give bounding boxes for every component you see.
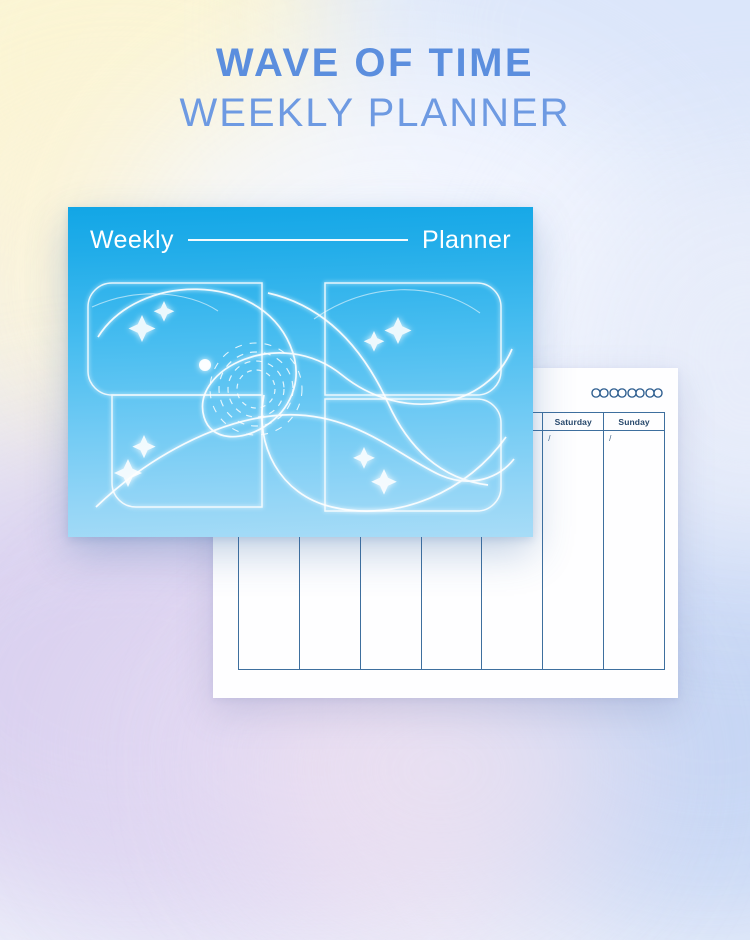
day-date-field[interactable]: / — [543, 431, 603, 443]
page-title: WAVE OF TIME — [0, 42, 750, 84]
flowing-wave-line-icon — [96, 289, 514, 511]
concentric-dashed-circles-icon — [210, 343, 302, 435]
accent-dot-icon — [199, 359, 211, 371]
cover-card-header: Weekly Planner — [90, 223, 511, 257]
page-subtitle: WEEKLY PLANNER — [0, 90, 750, 136]
day-date-field[interactable]: / — [604, 431, 664, 443]
day-column-header: Saturday — [543, 413, 603, 431]
day-column-saturday[interactable]: Saturday / — [543, 413, 604, 669]
day-column-sunday[interactable]: Sunday / — [604, 413, 664, 669]
headline-block: WAVE OF TIME WEEKLY PLANNER — [0, 42, 750, 136]
cover-card: Weekly Planner — [68, 207, 533, 537]
panel-frames — [88, 283, 501, 511]
cover-title-left: Weekly — [90, 226, 174, 255]
cover-title-right: Planner — [422, 226, 511, 255]
infinity-chain-icon — [590, 384, 664, 402]
day-column-header: Sunday — [604, 413, 664, 431]
horizontal-rule-icon — [188, 239, 408, 240]
